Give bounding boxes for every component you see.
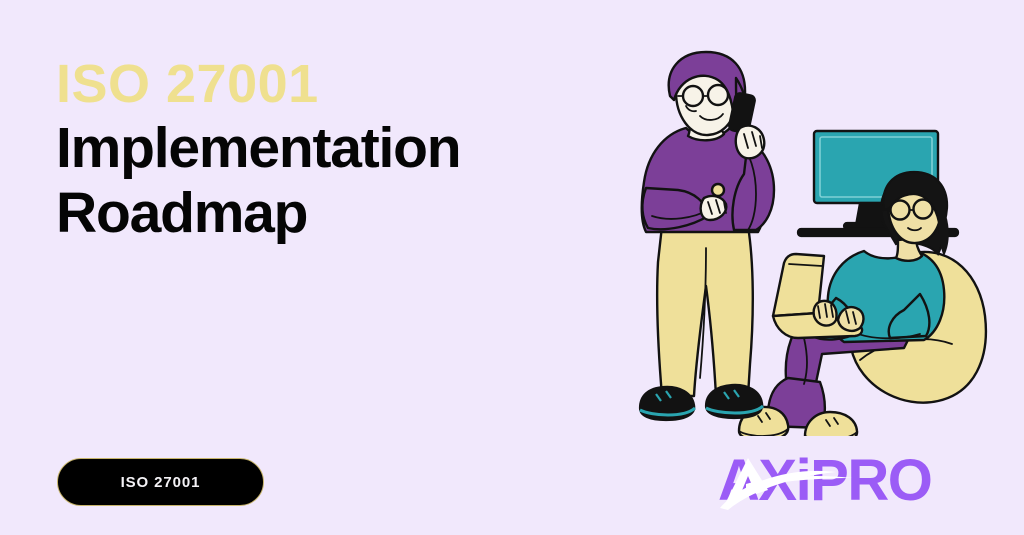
status-badge[interactable]: ISO 27001 (57, 458, 264, 506)
page-title-line-2: Roadmap (56, 182, 616, 244)
hero-illustration: .ln { fill:none; stroke:#121212; stroke-… (608, 48, 1008, 436)
iso-27001-roadmap-banner: ISO 27001 Implementation Roadmap ISO 270… (0, 0, 1024, 535)
headline-block: ISO 27001 Implementation Roadmap (56, 54, 616, 244)
brand-logo[interactable]: AXiPRO (718, 448, 980, 514)
status-badge-label: ISO 27001 (121, 474, 201, 491)
standing-person (640, 52, 774, 420)
eyebrow-text: ISO 27001 (56, 54, 616, 114)
page-title-line-1: Implementation (56, 117, 616, 179)
